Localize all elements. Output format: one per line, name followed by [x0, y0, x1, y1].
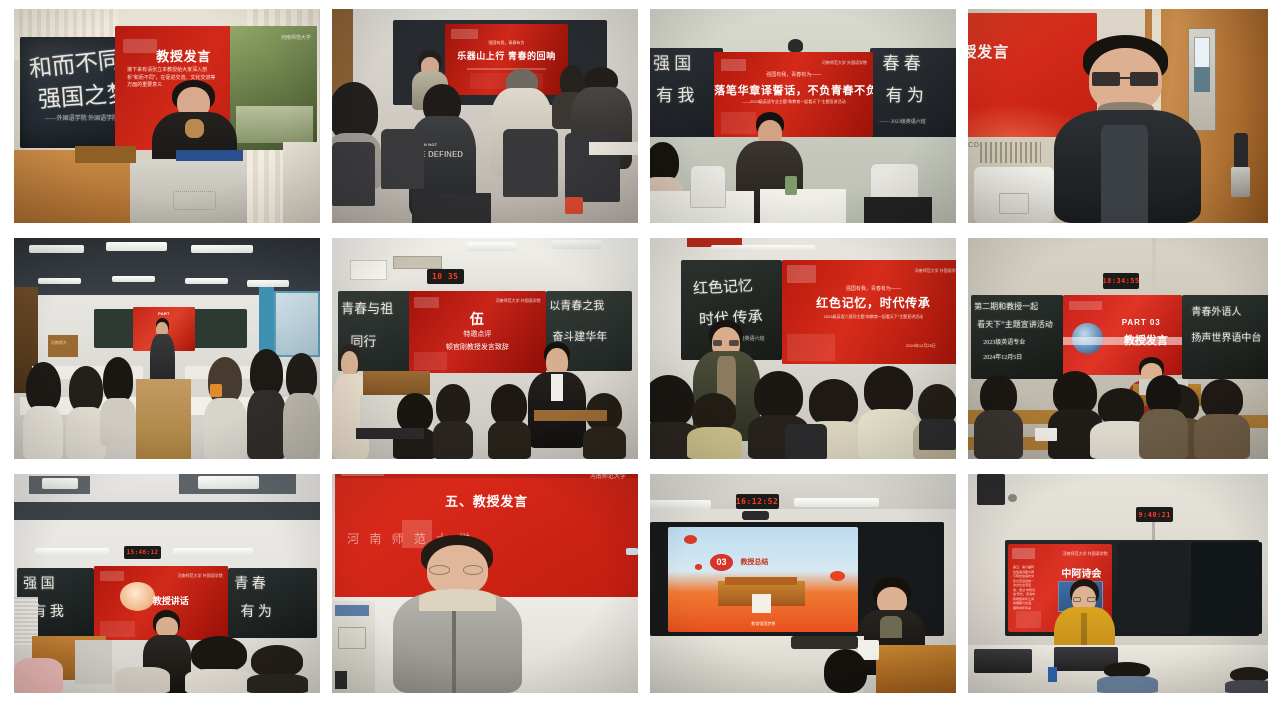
- collage-photo-8[interactable]: 18:34:55 第二期和教授一起 看天下”主题宣讲活动 2023级英语专业 2…: [968, 238, 1268, 459]
- slide-part-8: PART 03: [1122, 318, 1161, 327]
- slide-sub-7: 2023级英语六班同主题“和教育一起看天下”主题宣讲活动: [782, 314, 956, 320]
- digital-clock-9: 15:46:12: [124, 546, 161, 559]
- slide-kicker-3: 强国有我，青春有为——: [714, 71, 873, 78]
- clock-time-8: 18:34:55: [1102, 277, 1139, 285]
- slide-title-11: 教授总结: [740, 557, 768, 567]
- chalk-right-9b: 有 为: [240, 605, 272, 621]
- digital-clock-12: 9:40:21: [1136, 507, 1173, 522]
- chalk-right-3b: 有 为: [886, 86, 924, 106]
- collage-photo-1[interactable]: 和而不同 强国之梦 ——外国语学院 外国语学院 汉语言文学 文学3班 河南师范大…: [14, 9, 320, 223]
- presentation-screen-7: 河南师范大学 外国语学院 强国有我，青春有为—— 红色记忆，时代传承 2023级…: [782, 260, 956, 364]
- slide-logo-left-12: [1012, 548, 1035, 559]
- slide-sub-6: 顿官刚教授发言致辞: [409, 342, 547, 352]
- slide-sub-3: ——2023级英语专业主题“和教育一起看天下”主题宣讲活动: [714, 99, 873, 105]
- slide-title-12: 中阿诗会: [1061, 565, 1101, 580]
- slide-logo-left-10: [341, 474, 383, 476]
- chalk-left-8b: 看天下”主题宣讲活动: [977, 320, 1053, 329]
- chalk-right-8a: 青春外语人: [1191, 307, 1241, 319]
- slide-kicker-7: 强国有我，青春有为——: [782, 285, 956, 292]
- photo-collage-grid: 和而不同 强国之梦 ——外国语学院 外国语学院 汉语言文学 文学3班 河南师范大…: [0, 0, 1268, 713]
- collage-photo-12[interactable]: 9:40:21 河南师范大学 外国语学院 中阿诗会 第五、第六届阿拉伯语诗歌大赛…: [968, 474, 1268, 693]
- chalk-left-3a: 强 国: [653, 54, 691, 74]
- clock-time-9: 15:46:12: [127, 549, 159, 556]
- slide-logo-left-6: [414, 297, 439, 308]
- clock-time-12: 9:40:21: [1138, 511, 1170, 519]
- school-logo-1: 河南师范大学: [281, 34, 311, 41]
- slide-number-6: 伍: [409, 309, 547, 329]
- slide-title-2: 乐器山上行 青春的回响: [445, 49, 567, 62]
- school-logo-6: 河南师范大学 外国语学院: [496, 298, 541, 304]
- speaker-4: [1054, 35, 1201, 223]
- school-logo-3: 河南师范大学 外国语学院: [822, 60, 867, 66]
- slide-title-7: 红色记忆，时代传承: [782, 294, 956, 311]
- chalk-left-9a: 强 国: [23, 577, 55, 593]
- chalk-7a: 红色记忆: [692, 278, 753, 298]
- school-logo-12: 河南师范大学 外国语学院: [1063, 551, 1108, 557]
- podium-label-5: 河南师大: [51, 340, 67, 346]
- collage-photo-11[interactable]: 16:12:52 03 教授总结 教育强国梦想: [650, 474, 956, 693]
- slide-logo-left-3: [721, 59, 746, 72]
- slide-kicker-2: 强国有我，青春有为: [445, 40, 567, 46]
- collage-photo-4[interactable]: 授发言 CDPR: [968, 9, 1268, 223]
- collage-photo-9[interactable]: 15:46:12 强 国 有 我 青 春 有 为 河南师范大学 外国语学院 教授…: [14, 474, 320, 693]
- slide-logo-left-2: [451, 29, 478, 39]
- collage-photo-5[interactable]: PART 河南师大: [14, 238, 320, 459]
- podium-5: [48, 335, 79, 357]
- school-logo-7: 河南师范大学 外国语学院: [915, 268, 956, 274]
- digital-clock-11: 16:12:52: [736, 494, 779, 509]
- speaker-10: [393, 535, 522, 693]
- slide-footer-11: 教育强国梦想: [668, 621, 858, 627]
- collage-photo-2[interactable]: 强国有我，青春有为 乐器山上行 青春的回响 CAN: [332, 9, 638, 223]
- collage-photo-3[interactable]: 强 国 有 我 春 春 有 为 —— 2023级英语六班 河南师范大学 外国语学…: [650, 9, 956, 223]
- slide-title-10: 五、教授发言: [335, 491, 638, 510]
- chalk-right-sign-3: —— 2023级英语六班: [880, 120, 926, 126]
- chalk-right-6a: 以青春之我: [549, 300, 604, 313]
- school-logo-9: 河南师范大学 外国语学院: [178, 573, 223, 579]
- chalk-left-8d: 2024年12月5日: [983, 355, 1022, 362]
- clock-time-6: 10 35: [432, 272, 458, 281]
- digital-clock-6: 10 35: [427, 269, 464, 284]
- slide-logo-left-8: [1069, 301, 1102, 310]
- slide-date-7: 2024年12月25日: [906, 343, 936, 349]
- collage-photo-7[interactable]: 红色记忆 时代 传承 2023级英语六班 河南师范大学 外国语学院 强国有我，青…: [650, 238, 956, 459]
- slide-title-3: 落笔华章译誓话，不负青春不负国: [714, 82, 873, 98]
- clock-time-11: 16:12:52: [736, 497, 778, 506]
- collage-photo-10[interactable]: 河南师范大学 五、教授发言 河 南 师 范 大 学: [332, 474, 638, 693]
- slide-logo-left-9: [100, 571, 124, 581]
- slide-title-5: PART: [133, 311, 194, 316]
- chalk-left-8c: 2023级英语专业: [983, 340, 1025, 347]
- slide-title-1: 教授发言: [115, 46, 285, 65]
- chalk-right-9a: 青 春: [234, 577, 266, 593]
- chalk-right-3a: 春 春: [883, 54, 921, 74]
- slide-title-9: 教授讲话: [153, 594, 189, 607]
- school-logo-10: 河南师范大学: [590, 474, 626, 480]
- slide-logo-left-7: [787, 265, 816, 283]
- chalk-left-8a: 第二期和教授一起: [974, 302, 1038, 311]
- collage-photo-6[interactable]: 10 35 青春与祖 同行 以青春之我 奋斗建华年 河南师范大学 外国语学院 伍…: [332, 238, 638, 459]
- chalk-left-6a: 青春与祖: [341, 302, 393, 317]
- presentation-screen-6: 河南师范大学 外国语学院 伍 特邀点评 顿官刚教授发言致辞: [409, 291, 547, 373]
- presentation-screen-11: 03 教授总结 教育强国梦想: [668, 527, 858, 632]
- jacket-text-2: CAN NOT: [418, 142, 473, 147]
- digital-clock-8: 18:34:55: [1103, 273, 1140, 288]
- slide-sub-title-6: 特邀点评: [409, 329, 547, 339]
- slide-number-11: 03: [716, 557, 726, 567]
- jacket-text-2b: BE DEFINED: [415, 150, 482, 159]
- chalk-left-3b: 有 我: [656, 86, 694, 106]
- speaker-6: [528, 342, 586, 448]
- slide-body-12: 第五、第六届阿拉伯语诗歌大赛与阿拉伯语中文化交流活动的一次文化交流活动，通过“中…: [1013, 565, 1036, 610]
- slide-title-4: 授发言: [968, 41, 1009, 62]
- chalk-right-8b: 扬声世界语中台: [1191, 333, 1261, 345]
